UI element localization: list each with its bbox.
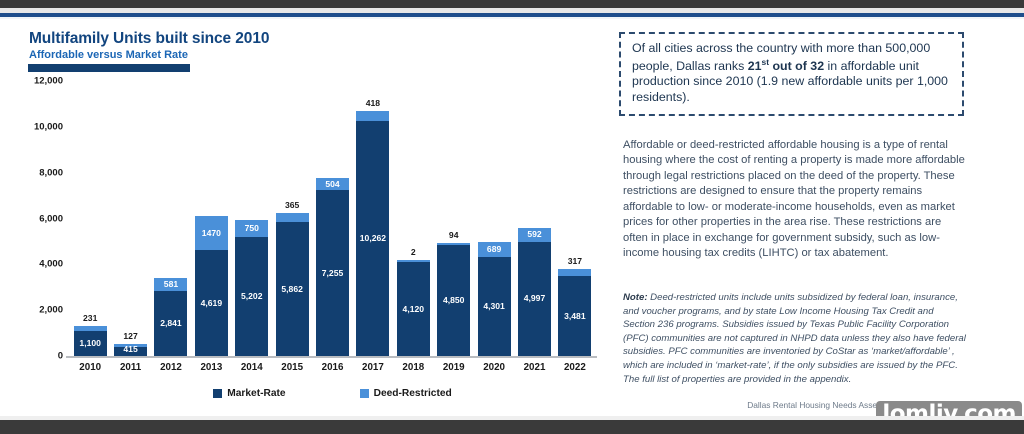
bar-value-label-deed: 2	[411, 248, 416, 257]
bar-value-label-market: 415	[123, 345, 137, 354]
bar-segment-market-rate[interactable]: 4,301	[478, 257, 511, 356]
bar-stack: 7505,202	[235, 220, 268, 356]
slide-page: Multifamily Units built since 2010 Affor…	[0, 0, 1024, 434]
bar-column[interactable]: 41810,262	[353, 81, 393, 356]
chart-panel: Multifamily Units built since 2010 Affor…	[0, 19, 600, 415]
bar-value-label-deed: 581	[164, 280, 178, 289]
callout-rank-outof: out of 32	[769, 59, 824, 73]
callout-rank-ordinal: st	[762, 57, 770, 67]
bar-value-label-market: 4,619	[201, 299, 223, 308]
x-axis-tick-label: 2021	[514, 362, 554, 373]
bar-segment-market-rate[interactable]: 415	[114, 347, 147, 357]
x-axis-tick-label: 2022	[555, 362, 595, 373]
bar-value-label-deed: 418	[366, 99, 380, 108]
bar-stack: 3655,862	[276, 213, 309, 356]
bar-column[interactable]: 7505,202	[232, 81, 272, 356]
bar-stack: 24,120	[397, 260, 430, 356]
bar-segment-market-rate[interactable]: 4,120	[397, 262, 430, 356]
x-axis-tick-label: 2018	[393, 362, 433, 373]
bar-value-label-market: 4,120	[403, 305, 425, 314]
legend-swatch	[213, 389, 222, 398]
bar-segment-deed-restricted[interactable]: 592	[518, 228, 551, 242]
bar-value-label-deed: 231	[83, 314, 97, 323]
x-axis-tick-label: 2017	[353, 362, 393, 373]
y-axis-tick: 12,000	[34, 76, 63, 87]
x-axis-tick-label: 2012	[151, 362, 191, 373]
bar-segment-market-rate[interactable]: 4,619	[195, 250, 228, 356]
bar-segment-market-rate[interactable]: 5,202	[235, 237, 268, 356]
note-text: Deed-restricted units include units subs…	[623, 292, 966, 385]
bar-column[interactable]: 944,850	[434, 81, 474, 356]
bar-column[interactable]: 3655,862	[272, 81, 312, 356]
y-axis-tick: 2,000	[39, 305, 63, 316]
bar-column[interactable]: 3173,481	[555, 81, 595, 356]
bar-stack: 2311,100	[74, 326, 107, 356]
bar-stack: 5047,255	[316, 178, 349, 356]
bar-segment-market-rate[interactable]: 2,841	[154, 291, 187, 356]
bar-segment-deed-restricted[interactable]: 418	[356, 111, 389, 121]
bar-value-label-deed: 592	[527, 230, 541, 239]
bar-segment-market-rate[interactable]: 7,255	[316, 190, 349, 356]
bar-value-label-market: 4,850	[443, 296, 465, 305]
x-axis-tick-label: 2020	[474, 362, 514, 373]
bar-value-label-deed: 750	[245, 224, 259, 233]
bar-value-label-market: 1,100	[79, 339, 101, 348]
callout-rank-number: 21	[748, 59, 762, 73]
bar-value-label-market: 5,862	[281, 285, 303, 294]
bar-stack: 41810,262	[356, 111, 389, 356]
bar-segment-deed-restricted[interactable]: 581	[154, 278, 187, 291]
bar-segment-market-rate[interactable]: 4,850	[437, 245, 470, 356]
bottom-chrome-band	[0, 420, 1024, 434]
x-axis-tick-label: 2016	[312, 362, 352, 373]
x-axis-tick-label: 2010	[70, 362, 110, 373]
bar-stack: 14704,619	[195, 216, 228, 356]
bar-stack: 5812,841	[154, 278, 187, 356]
x-axis-tick-label: 2011	[110, 362, 150, 373]
y-axis-tick: 0	[58, 351, 63, 362]
bar-value-label-market: 5,202	[241, 292, 263, 301]
legend-label: Deed-Restricted	[374, 388, 452, 399]
bar-value-label-market: 4,301	[483, 302, 505, 311]
x-axis-tick-label: 2013	[191, 362, 231, 373]
chart-legend: Market-RateDeed-Restricted	[70, 388, 595, 399]
bar-stack: 6894,301	[478, 242, 511, 356]
affordable-housing-description: Affordable or deed-restricted affordable…	[623, 138, 968, 262]
y-axis-labels: 02,0004,0006,0008,00010,00012,000	[0, 81, 63, 356]
bar-stack: 127415	[114, 344, 147, 356]
y-axis-tick: 8,000	[39, 167, 63, 178]
bar-segment-deed-restricted[interactable]: 365	[276, 213, 309, 221]
note-label: Note:	[623, 292, 648, 303]
bar-segment-deed-restricted[interactable]: 1470	[195, 216, 228, 250]
x-axis-tick-label: 2015	[272, 362, 312, 373]
text-panel: Of all cities across the country with mo…	[612, 19, 1012, 415]
y-axis-tick: 10,000	[34, 121, 63, 132]
bar-stack: 944,850	[437, 243, 470, 356]
bar-column[interactable]: 5812,841	[151, 81, 191, 356]
bar-value-label-deed: 689	[487, 245, 501, 254]
bar-value-label-market: 10,262	[360, 234, 386, 243]
legend-swatch	[360, 389, 369, 398]
bar-column[interactable]: 6894,301	[474, 81, 514, 356]
bar-segment-market-rate[interactable]: 10,262	[356, 121, 389, 356]
chart-subtitle: Affordable versus Market Rate	[29, 49, 188, 61]
bar-stack: 3173,481	[558, 269, 591, 356]
title-accent-bar	[28, 64, 190, 72]
bar-segment-market-rate[interactable]: 4,997	[518, 242, 551, 357]
bar-value-label-market: 2,841	[160, 319, 182, 328]
bar-column[interactable]: 5047,255	[312, 81, 352, 356]
methodology-note: Note: Deed-restricted units include unit…	[623, 291, 968, 386]
bar-value-label-deed: 317	[568, 257, 582, 266]
bar-segment-market-rate[interactable]: 3,481	[558, 276, 591, 356]
callout-rank-bold: 21st out of 32	[748, 59, 824, 73]
bar-value-label-market: 3,481	[564, 312, 586, 321]
bar-segment-deed-restricted[interactable]: 750	[235, 220, 268, 237]
top-chrome-band	[0, 0, 1024, 8]
bar-column[interactable]: 5924,997	[514, 81, 554, 356]
bar-segment-deed-restricted[interactable]: 504	[316, 178, 349, 190]
bar-value-label-market: 7,255	[322, 269, 344, 278]
x-axis-tick-label: 2019	[434, 362, 474, 373]
bar-series-container: 2311,1001274155812,84114704,6197505,2023…	[70, 81, 595, 356]
bar-value-label-market: 4,997	[524, 294, 546, 303]
bar-column[interactable]: 24,120	[393, 81, 433, 356]
x-axis-baseline	[66, 356, 597, 358]
bar-column[interactable]: 127415	[110, 81, 150, 356]
chart-title: Multifamily Units built since 2010	[29, 30, 269, 48]
y-axis-tick: 4,000	[39, 259, 63, 270]
x-axis-tick-label: 2014	[232, 362, 272, 373]
bar-value-label-deed: 94	[449, 231, 459, 240]
bar-segment-market-rate[interactable]: 1,100	[74, 331, 107, 356]
bar-stack: 5924,997	[518, 228, 551, 356]
y-axis-tick: 6,000	[39, 213, 63, 224]
bar-value-label-deed: 1470	[202, 229, 221, 238]
bar-value-label-deed: 127	[123, 332, 137, 341]
bar-segment-deed-restricted[interactable]: 317	[558, 269, 591, 276]
bar-value-label-deed: 365	[285, 201, 299, 210]
x-axis-labels: 2010201120122013201420152016201720182019…	[70, 362, 595, 373]
bar-column[interactable]: 2311,100	[70, 81, 110, 356]
bar-value-label-deed: 504	[325, 180, 339, 189]
ranking-callout-box: Of all cities across the country with mo…	[619, 32, 964, 116]
bar-segment-market-rate[interactable]: 5,862	[276, 222, 309, 356]
legend-item[interactable]: Market-Rate	[213, 388, 285, 399]
bar-segment-deed-restricted[interactable]: 689	[478, 242, 511, 258]
legend-label: Market-Rate	[227, 388, 285, 399]
legend-item[interactable]: Deed-Restricted	[360, 388, 452, 399]
bar-column[interactable]: 14704,619	[191, 81, 231, 356]
